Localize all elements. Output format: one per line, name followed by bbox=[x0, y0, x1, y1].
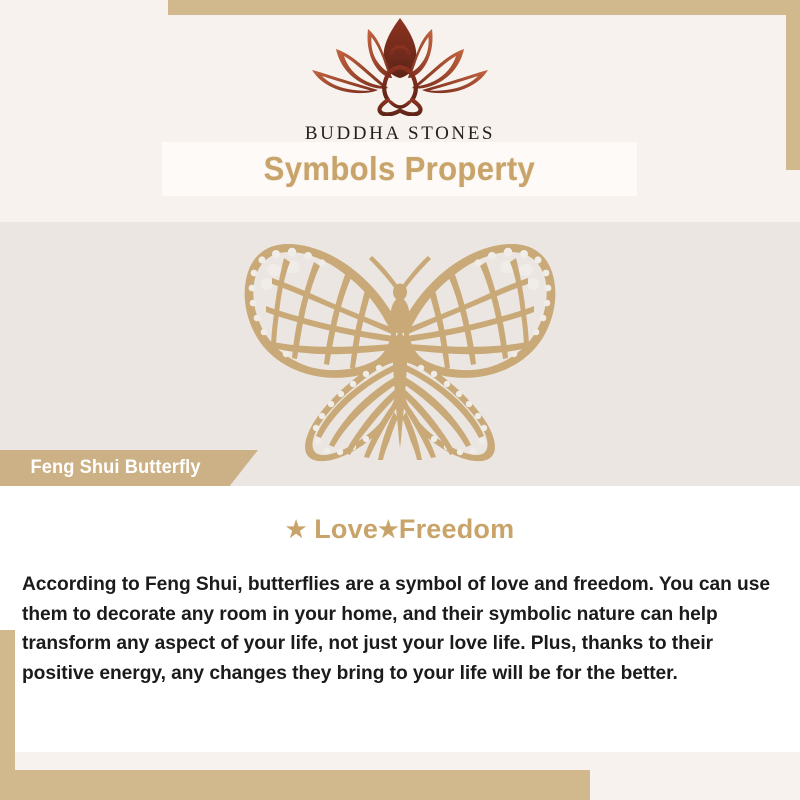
page-title: Symbols Property bbox=[264, 150, 535, 188]
star-icon-left: ★ bbox=[286, 516, 307, 542]
title-banner: Symbols Property bbox=[162, 142, 637, 196]
butterfly-icon bbox=[228, 232, 572, 470]
promo-graphic-page: BUDDHA STONES Symbols Property bbox=[0, 0, 800, 800]
heading-word-freedom: Freedom bbox=[399, 514, 514, 544]
star-icon-middle: ★ bbox=[378, 516, 399, 542]
status-badge: Feng Shui Butterfly bbox=[0, 450, 258, 486]
lotus-meditation-icon bbox=[306, 16, 494, 121]
corner-frame-bottom-left-horizontal bbox=[0, 770, 590, 800]
description-paragraph: According to Feng Shui, butterflies are … bbox=[22, 570, 784, 688]
tag-label: Feng Shui Butterfly bbox=[31, 457, 201, 479]
heading-word-love: Love bbox=[314, 514, 378, 544]
section-heading: ★ Love★Freedom bbox=[0, 514, 800, 545]
brand-logo: BUDDHA STONES bbox=[0, 16, 800, 142]
corner-frame-top-right-horizontal bbox=[168, 0, 800, 15]
